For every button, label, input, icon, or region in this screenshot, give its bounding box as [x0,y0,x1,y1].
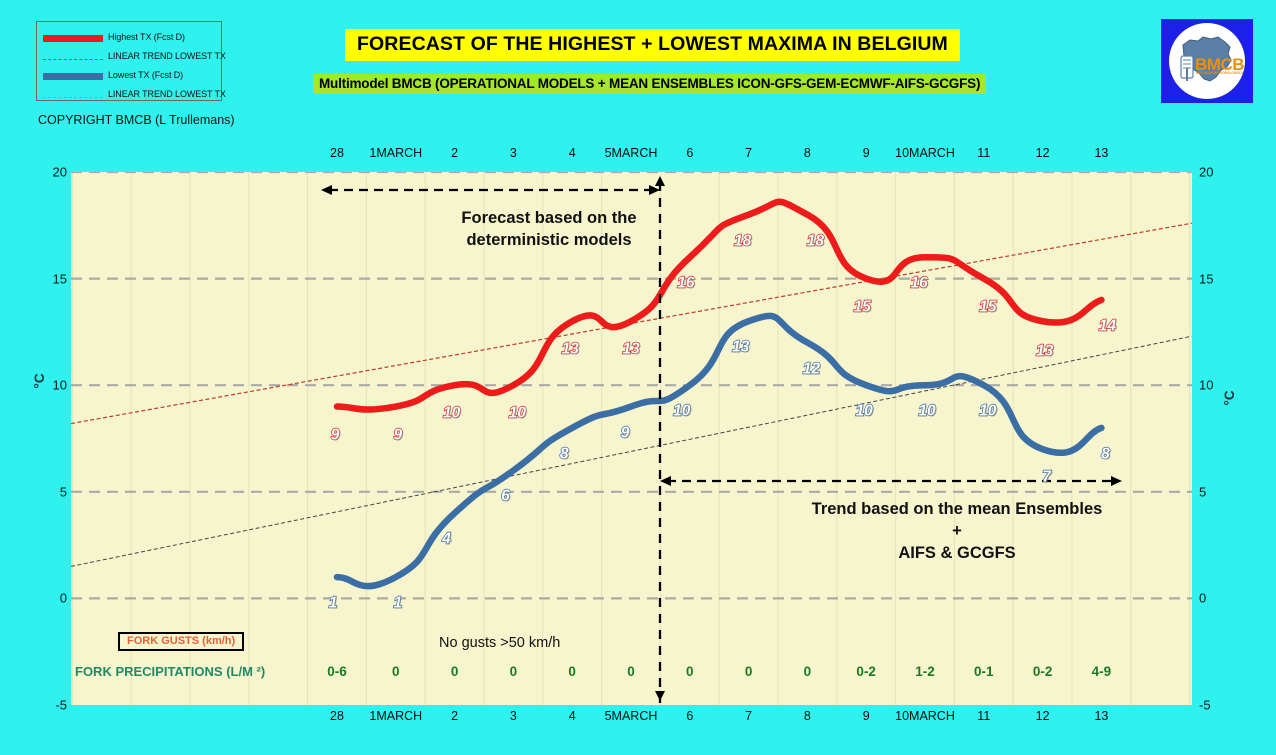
annotation-trend: Trend based on the mean Ensembles + AIFS… [733,499,1181,564]
data-label: 13 [622,341,639,357]
data-label: 10 [673,403,690,419]
annotation-trend-line3: AIFS & GCGFS [733,543,1181,565]
date-tick-5march: 5MARCH [605,146,658,160]
chart-svg [71,172,1192,705]
date-tick-3: 3 [510,146,517,160]
date-tick-6: 6 [686,146,693,160]
date-tick-13: 13 [1094,146,1108,160]
date-tick-3: 3 [510,709,517,723]
y-axis-unit-label: °C [1222,390,1237,405]
precipitation-title: FORK PRECIPITATIONS (L/M ²) [75,664,265,679]
date-tick-2: 2 [451,146,458,160]
date-tick-5march: 5MARCH [605,709,658,723]
date-tick-8: 8 [804,709,811,723]
y-axis-tick-15: 15 [53,271,67,286]
legend-swatch-gray-dashed-icon [43,97,103,98]
data-label: 16 [677,276,694,292]
annotation-deterministic: Forecast based on the deterministic mode… [409,208,689,252]
date-tick-13: 13 [1094,709,1108,723]
copyright-text: COPYRIGHT BMCB (L Trullemans) [38,113,235,127]
bottom-date-axis: 281MARCH2345MARCH678910MARCH111213 [0,709,1276,727]
precipitation-value: 0 [686,664,694,679]
data-label: 15 [979,299,996,315]
legend-label: LINEAR TREND LOWEST TX [108,89,226,99]
data-label: 18 [734,233,751,249]
date-tick-4: 4 [569,709,576,723]
legend-swatch-blue-solid-icon [43,73,103,80]
y-axis-tick--5: -5 [55,698,67,713]
date-tick-12: 12 [1036,146,1050,160]
precipitation-value: 1-2 [915,664,935,679]
date-tick-9: 9 [863,709,870,723]
data-label: 13 [732,339,749,355]
legend-item-highest-tx: Highest TX (Fcst D) [43,27,215,46]
top-date-axis: 281MARCH2345MARCH678910MARCH111213 [0,146,1276,164]
data-label: 1 [393,595,402,611]
y-axis-tick-10: 10 [53,378,67,393]
precipitation-value: 0-6 [327,664,347,679]
chart-page: Highest TX (Fcst D) LINEAR TREND LOWEST … [0,0,1276,755]
bmcb-logo: BMCB BELGISCH METEOROLOGISCH [1161,19,1253,103]
data-label: 14 [1099,318,1116,334]
data-label: 10 [856,403,873,419]
data-label: 8 [560,446,569,462]
data-label: 7 [1042,469,1051,485]
y-axis-tick-10: 10 [1199,378,1213,393]
data-label: 9 [331,427,340,443]
date-tick-4: 4 [569,146,576,160]
plot-area: Forecast based on the deterministic mode… [71,172,1192,705]
y-axis-tick--5: -5 [1199,698,1211,713]
y-axis-tick-5: 5 [60,484,67,499]
legend-swatch-red-dashed-icon [43,59,103,60]
page-subtitle: Multimodel BMCB (OPERATIONAL MODELS + ME… [313,74,986,94]
precipitation-value: 0 [451,664,459,679]
date-tick-12: 12 [1036,709,1050,723]
precipitation-value: 4-9 [1092,664,1112,679]
y-axis-tick-5: 5 [1199,484,1206,499]
data-label: 4 [442,531,451,547]
arrow-ensemble-span [660,476,1122,486]
y-axis-tick-20: 20 [53,165,67,180]
y-axis-tick-15: 15 [1199,271,1213,286]
date-tick-28: 28 [330,709,344,723]
date-tick-1march: 1MARCH [369,709,422,723]
date-tick-7: 7 [745,146,752,160]
data-label: 13 [1036,343,1053,359]
legend-swatch-red-solid-icon [43,35,103,42]
data-label: 13 [562,341,579,357]
gusts-note: No gusts >50 km/h [439,635,560,651]
legend-label: Lowest TX (Fcst D) [108,70,183,80]
precipitation-value: 0 [510,664,518,679]
precipitation-value: 0 [804,664,812,679]
precipitation-value: 0 [627,664,635,679]
date-tick-10march: 10MARCH [895,146,955,160]
y-axis-tick-20: 20 [1199,165,1213,180]
precipitation-value: 0-2 [1033,664,1053,679]
legend-item-trend-gray: LINEAR TREND LOWEST TX [43,84,215,103]
precipitation-value: 0 [568,664,576,679]
logo-circle: BMCB BELGISCH METEOROLOGISCH [1169,23,1245,99]
arrow-deterministic-span [321,185,660,195]
data-label: 9 [393,427,402,443]
date-tick-11: 11 [977,146,990,160]
date-tick-9: 9 [863,146,870,160]
annotation-trend-line2: + [733,521,1181,543]
page-title: FORECAST OF THE HIGHEST + LOWEST MAXIMA … [345,29,960,61]
data-label: 6 [501,489,510,505]
precipitation-value: 0-1 [974,664,994,679]
date-tick-6: 6 [686,709,693,723]
legend-label: LINEAR TREND LOWEST TX [108,51,226,61]
data-label: 15 [854,299,871,315]
legend-label: Highest TX (Fcst D) [108,32,185,42]
data-label: 10 [509,405,526,421]
gusts-badge: FORK GUSTS (km/h) [118,632,244,651]
date-tick-11: 11 [977,709,990,723]
logo-subtext: BELGISCH METEOROLOGISCH [1196,71,1244,75]
data-label: 18 [807,233,824,249]
chart-legend: Highest TX (Fcst D) LINEAR TREND LOWEST … [36,21,222,101]
precipitation-value: 0 [392,664,400,679]
y-axis-unit-label: °C [32,373,47,388]
date-tick-10march: 10MARCH [895,709,955,723]
date-tick-28: 28 [330,146,344,160]
precipitation-value: 0 [745,664,753,679]
annotation-trend-line1: Trend based on the mean Ensembles [733,499,1181,521]
legend-item-lowest-tx: Lowest TX (Fcst D) [43,65,215,84]
date-tick-8: 8 [804,146,811,160]
data-label: 9 [621,425,630,441]
data-label: 12 [803,361,820,377]
date-tick-2: 2 [451,709,458,723]
data-label: 10 [979,403,996,419]
y-axis-tick-0: 0 [1199,591,1206,606]
data-label: 1 [329,595,338,611]
data-label: 8 [1101,446,1110,462]
date-tick-7: 7 [745,709,752,723]
y-axis-tick-0: 0 [60,591,67,606]
precipitation-value: 0-2 [856,664,876,679]
data-label: 10 [443,405,460,421]
data-label: 16 [910,276,927,292]
date-tick-1march: 1MARCH [369,146,422,160]
legend-item-trend-red: LINEAR TREND LOWEST TX [43,46,215,65]
data-label: 10 [918,403,935,419]
